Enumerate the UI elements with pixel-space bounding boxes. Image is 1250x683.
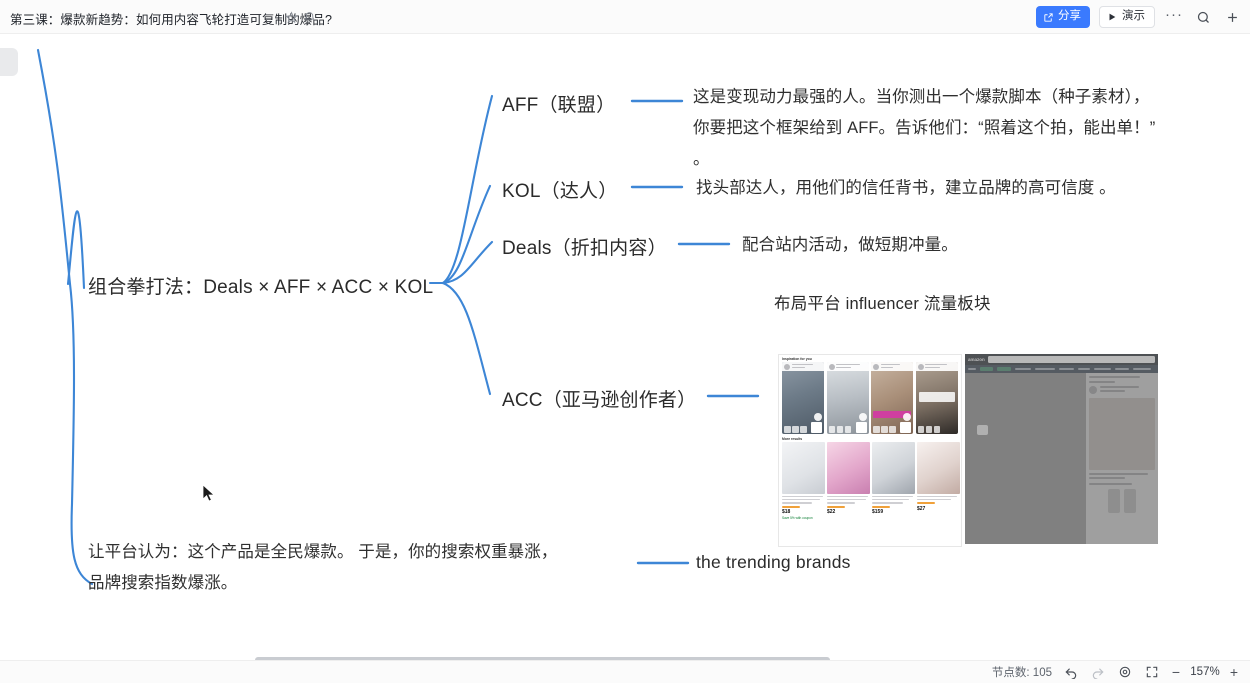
branch-title-deals[interactable]: Deals（折扣内容） bbox=[502, 233, 667, 260]
share-button[interactable]: 分享 bbox=[1036, 6, 1090, 28]
present-button-label: 演示 bbox=[1122, 11, 1145, 23]
inspire-feed-header: Inspiration for you bbox=[779, 355, 961, 362]
inspire-product-grid: $18 Save 5% with coupon $22 $159 bbox=[779, 442, 961, 520]
zoom-in-button[interactable]: + bbox=[1228, 665, 1240, 679]
target-icon[interactable] bbox=[1116, 664, 1133, 681]
play-icon bbox=[1107, 12, 1117, 22]
product-price: $18 bbox=[782, 509, 825, 515]
plus-icon[interactable] bbox=[1222, 7, 1242, 27]
mindmap-canvas[interactable]: 组合拳打法：Deals × AFF × ACC × KOL AFF（联盟） 这是… bbox=[0, 34, 1250, 683]
toolbar-actions: 分享 演示 ··· bbox=[1036, 0, 1242, 34]
inspire-video-card[interactable] bbox=[916, 362, 958, 434]
document-title[interactable]: 第三课：爆款新趋势：如何用内容飞轮打造可复制的爆品? bbox=[10, 9, 332, 28]
product-price: $22 bbox=[827, 509, 870, 515]
status-bar: 节点数: 105 − 157% + bbox=[0, 660, 1250, 683]
more-menu-button[interactable]: ··· bbox=[1164, 7, 1184, 27]
sidebar-toggle-stub[interactable] bbox=[0, 48, 18, 76]
star-icon[interactable] bbox=[285, 11, 298, 24]
product-card[interactable]: $159 bbox=[872, 442, 915, 520]
product-card[interactable]: $18 Save 5% with coupon bbox=[782, 442, 825, 520]
product-price: $27 bbox=[917, 506, 960, 512]
present-button[interactable]: 演示 bbox=[1099, 6, 1155, 28]
branch-desc-kol[interactable]: 找头部达人，用他们的信任背书，建立品牌的高可信度 。 bbox=[696, 173, 1216, 204]
product-price: $159 bbox=[872, 509, 915, 515]
branch-title-aff[interactable]: AFF（联盟） bbox=[502, 90, 615, 117]
search-icon[interactable] bbox=[1193, 7, 1213, 27]
inspire-more-results-header: More results bbox=[779, 434, 961, 442]
branch-title-kol[interactable]: KOL（达人） bbox=[502, 176, 617, 203]
undo-icon[interactable] bbox=[1062, 664, 1079, 681]
app-window: 第三课：爆款新趋势：如何用内容飞轮打造可复制的爆品? 分享 演示 ··· bbox=[0, 0, 1250, 683]
fit-screen-icon[interactable] bbox=[1143, 664, 1160, 681]
amazon-dim-overlay bbox=[965, 354, 1158, 544]
bottom-node-text[interactable]: 让平台认为：这个产品是全民爆款。 于是，你的搜索权重暴涨， 品牌搜索指数爆涨。 bbox=[88, 537, 628, 599]
inspire-video-card[interactable] bbox=[782, 362, 824, 434]
product-card[interactable]: $27 bbox=[917, 442, 960, 520]
embedded-image-amazon-page[interactable]: amazon bbox=[965, 354, 1158, 544]
zoom-level-label[interactable]: 157% bbox=[1188, 666, 1222, 678]
top-bar: 第三课：爆款新趋势：如何用内容飞轮打造可复制的爆品? 分享 演示 ··· bbox=[0, 0, 1250, 34]
zoom-controls: − 157% + bbox=[1170, 665, 1240, 679]
bell-icon[interactable] bbox=[303, 11, 316, 24]
acc-caption[interactable]: 布局平台 influencer 流量板块 bbox=[774, 290, 991, 314]
branch-title-acc[interactable]: ACC（亚马逊创作者） bbox=[502, 385, 696, 412]
share-export-icon bbox=[1043, 12, 1054, 23]
mouse-cursor bbox=[203, 485, 216, 508]
product-note: Save 5% with coupon bbox=[782, 516, 825, 520]
trending-brands-node[interactable]: the trending brands bbox=[696, 552, 851, 573]
inspire-video-card[interactable] bbox=[827, 362, 869, 434]
node-count-label: 节点数: 105 bbox=[992, 664, 1052, 680]
redo-icon[interactable] bbox=[1089, 664, 1106, 681]
zoom-out-button[interactable]: − bbox=[1170, 665, 1182, 679]
inspire-video-card[interactable] bbox=[871, 362, 913, 434]
embedded-image-inspire-feed[interactable]: Inspiration for you bbox=[778, 354, 962, 547]
mindmap-hub-node[interactable]: 组合拳打法：Deals × AFF × ACC × KOL bbox=[88, 272, 433, 299]
branch-desc-deals[interactable]: 配合站内活动，做短期冲量。 bbox=[742, 230, 1072, 261]
more-menu-label: ··· bbox=[1165, 6, 1183, 28]
inspire-video-row bbox=[779, 362, 961, 434]
share-button-label: 分享 bbox=[1058, 11, 1081, 23]
branch-desc-aff[interactable]: 这是变现动力最强的人。当你测出一个爆款脚本（种子素材）， 你要把这个框架给到 A… bbox=[693, 82, 1238, 175]
product-card[interactable]: $22 bbox=[827, 442, 870, 520]
